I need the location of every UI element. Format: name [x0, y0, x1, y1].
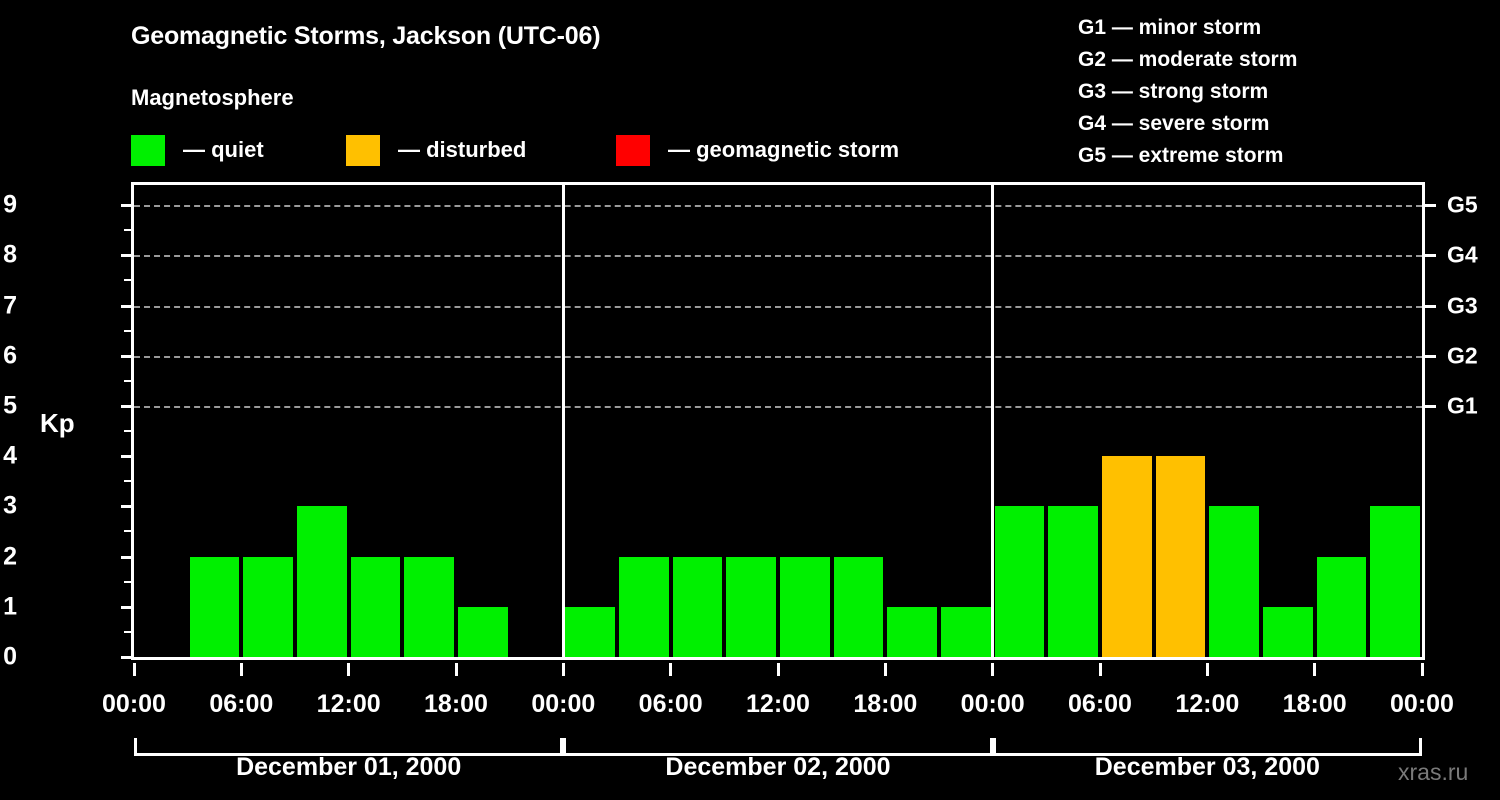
x-tick-mark	[884, 663, 887, 676]
g-tick-label: G2	[1447, 342, 1478, 369]
g-tick-mark	[1425, 254, 1436, 257]
g-tick-label: G5	[1447, 192, 1478, 219]
y-tick-label: 4	[0, 442, 17, 471]
legend-entry: — quiet	[131, 133, 264, 167]
x-tick-label: 00:00	[102, 690, 166, 719]
g-tick-label: G3	[1447, 292, 1478, 319]
y-tick-label: 5	[0, 391, 17, 420]
bar	[1102, 456, 1152, 657]
y-tick-label: 1	[0, 592, 17, 621]
y-tick-mark-minor	[124, 530, 131, 532]
storm-swatch	[616, 135, 650, 166]
plot-area	[131, 182, 1425, 660]
gridline	[134, 306, 1422, 308]
legend-entry: — disturbed	[346, 133, 526, 167]
bar	[1317, 557, 1367, 657]
x-tick-mark	[1421, 663, 1424, 676]
storm-scale-legend-row: G2 — moderate storm	[1078, 44, 1297, 76]
day-label: December 02, 2000	[665, 753, 890, 782]
y-tick-mark-minor	[124, 380, 131, 382]
bar	[404, 557, 454, 657]
y-tick-mark	[121, 606, 131, 609]
y-tick-mark	[121, 556, 131, 559]
x-tick-mark	[1206, 663, 1209, 676]
storm-scale-legend: G1 — minor stormG2 — moderate stormG3 — …	[1078, 12, 1297, 172]
y-tick-mark	[121, 355, 131, 358]
day-label: December 03, 2000	[1095, 753, 1320, 782]
chart-root: Geomagnetic Storms, Jackson (UTC-06) Mag…	[0, 0, 1500, 800]
y-tick-mark	[121, 505, 131, 508]
x-tick-label: 00:00	[1390, 690, 1454, 719]
bar	[619, 557, 669, 657]
x-tick-label: 12:00	[1175, 690, 1239, 719]
bar	[941, 607, 991, 657]
y-tick-mark-minor	[124, 581, 131, 583]
bar	[995, 506, 1045, 657]
gridline	[134, 406, 1422, 408]
y-tick-label: 6	[0, 341, 17, 370]
y-tick-mark-minor	[124, 279, 131, 281]
x-tick-label: 06:00	[209, 690, 273, 719]
bar	[1048, 506, 1098, 657]
bar	[887, 607, 937, 657]
bar	[565, 607, 615, 657]
y-tick-mark	[121, 204, 131, 207]
x-tick-mark	[133, 663, 136, 676]
y-tick-mark-minor	[124, 480, 131, 482]
y-tick-mark-minor	[124, 631, 131, 633]
y-tick-label: 7	[0, 291, 17, 320]
y-axis-title: Kp	[40, 408, 75, 439]
x-tick-label: 12:00	[746, 690, 810, 719]
y-tick-mark-minor	[124, 430, 131, 432]
x-tick-mark	[777, 663, 780, 676]
x-tick-mark	[455, 663, 458, 676]
bar	[673, 557, 723, 657]
storm-scale-legend-row: G5 — extreme storm	[1078, 140, 1297, 172]
bar	[1370, 506, 1420, 657]
x-tick-mark	[347, 663, 350, 676]
g-tick-mark	[1425, 405, 1436, 408]
bar	[190, 557, 240, 657]
g-tick-mark	[1425, 204, 1436, 207]
plot-inner	[134, 185, 1422, 657]
bar	[458, 607, 508, 657]
y-tick-label: 2	[0, 542, 17, 571]
y-tick-mark-minor	[124, 229, 131, 231]
disturbed-swatch	[346, 135, 380, 166]
x-tick-label: 18:00	[424, 690, 488, 719]
gridline	[134, 356, 1422, 358]
x-tick-mark	[240, 663, 243, 676]
x-tick-label: 06:00	[639, 690, 703, 719]
bar	[297, 506, 347, 657]
x-tick-mark	[562, 663, 565, 676]
legend-label: — geomagnetic storm	[668, 137, 899, 163]
x-tick-mark	[1313, 663, 1316, 676]
x-tick-label: 06:00	[1068, 690, 1132, 719]
page-title: Geomagnetic Storms, Jackson (UTC-06)	[131, 22, 600, 51]
bar	[834, 557, 884, 657]
bar	[351, 557, 401, 657]
legend-entry: — geomagnetic storm	[616, 133, 899, 167]
quiet-swatch	[131, 135, 165, 166]
y-tick-mark	[121, 656, 131, 659]
g-tick-mark	[1425, 305, 1436, 308]
x-tick-label: 18:00	[1283, 690, 1347, 719]
y-tick-mark	[121, 455, 131, 458]
day-separator	[562, 185, 565, 657]
gridline	[134, 205, 1422, 207]
day-label: December 01, 2000	[236, 753, 461, 782]
bar	[1156, 456, 1206, 657]
y-tick-label: 9	[0, 191, 17, 220]
bar	[1209, 506, 1259, 657]
bar	[726, 557, 776, 657]
x-tick-label: 00:00	[961, 690, 1025, 719]
y-tick-mark	[121, 305, 131, 308]
legend-label: — disturbed	[398, 137, 526, 163]
storm-scale-legend-row: G3 — strong storm	[1078, 76, 1297, 108]
g-tick-mark	[1425, 355, 1436, 358]
y-tick-mark-minor	[124, 330, 131, 332]
chart-subtitle: Magnetosphere	[131, 85, 294, 111]
y-tick-label: 8	[0, 241, 17, 270]
x-tick-label: 18:00	[853, 690, 917, 719]
legend-label: — quiet	[183, 137, 264, 163]
storm-scale-legend-row: G4 — severe storm	[1078, 108, 1297, 140]
g-tick-label: G4	[1447, 242, 1478, 269]
gridline	[134, 255, 1422, 257]
x-tick-mark	[669, 663, 672, 676]
g-tick-label: G1	[1447, 392, 1478, 419]
bar	[243, 557, 293, 657]
y-tick-label: 3	[0, 492, 17, 521]
bar	[780, 557, 830, 657]
x-tick-label: 00:00	[531, 690, 595, 719]
y-tick-mark	[121, 254, 131, 257]
x-tick-mark	[1099, 663, 1102, 676]
y-tick-mark	[121, 405, 131, 408]
x-tick-label: 12:00	[317, 690, 381, 719]
storm-scale-legend-row: G1 — minor storm	[1078, 12, 1297, 44]
watermark: xras.ru	[1398, 759, 1468, 786]
y-tick-label: 0	[0, 643, 17, 672]
x-tick-mark	[991, 663, 994, 676]
bar	[1263, 607, 1313, 657]
